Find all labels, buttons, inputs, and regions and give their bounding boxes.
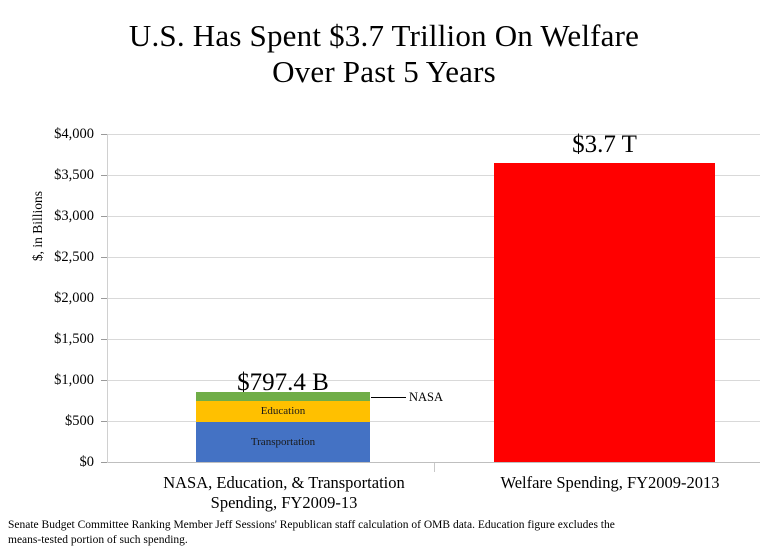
y-axis-tick-label: $3,000 — [24, 209, 94, 223]
bar-total-label-left: $797.4 B — [196, 370, 370, 396]
source-footnote: Senate Budget Committee Ranking Member J… — [8, 518, 760, 548]
x-axis-label-line-2: Spending, FY2009-13 — [110, 493, 458, 513]
bar-total-label-right: $3.7 T — [494, 132, 715, 158]
x-axis-label-line-1: Welfare Spending, FY2009-2013 — [460, 473, 760, 493]
y-axis-tick-label: $1,500 — [24, 332, 94, 346]
y-axis-title: $, in Billions — [30, 166, 46, 286]
bar-segment-education[interactable]: Education — [196, 401, 370, 422]
plot-area: Transportation Education — [108, 134, 760, 462]
y-axis-tick-label: $500 — [24, 414, 94, 428]
x-axis-divider-tick — [434, 463, 435, 472]
source-footnote-line-1: Senate Budget Committee Ranking Member J… — [8, 518, 760, 533]
x-axis-label-nasa-education-transportation: NASA, Education, & Transportation Spendi… — [110, 473, 458, 513]
bar-segment-transportation[interactable]: Transportation — [196, 422, 370, 462]
x-axis-label-line-1: NASA, Education, & Transportation — [110, 473, 458, 493]
bar-segment-label-education: Education — [261, 406, 306, 417]
y-axis-tick-label: $0 — [24, 455, 94, 469]
nasa-leader-line — [371, 397, 406, 398]
y-axis-tick-label: $3,500 — [24, 168, 94, 182]
page-title: U.S. Has Spent $3.7 Trillion On Welfare … — [0, 18, 768, 90]
y-axis-tick-label: $2,000 — [24, 291, 94, 305]
x-axis-label-welfare-spending: Welfare Spending, FY2009-2013 — [460, 473, 760, 493]
y-axis-tick-label: $4,000 — [24, 127, 94, 141]
y-axis-tick-label: $1,000 — [24, 373, 94, 387]
source-footnote-line-2: means-tested portion of such spending. — [8, 533, 760, 548]
bar-segment-label-transportation: Transportation — [251, 437, 315, 448]
bar-nasa-education-transportation[interactable]: Transportation Education — [196, 392, 370, 462]
page-title-line-1: U.S. Has Spent $3.7 Trillion On Welfare — [0, 18, 768, 54]
page-title-line-2: Over Past 5 Years — [0, 54, 768, 90]
y-axis-tick-label: $2,500 — [24, 250, 94, 264]
nasa-callout-label: NASA — [409, 391, 443, 404]
bar-welfare-spending[interactable] — [494, 163, 715, 462]
bar-segment-welfare[interactable] — [494, 163, 715, 462]
